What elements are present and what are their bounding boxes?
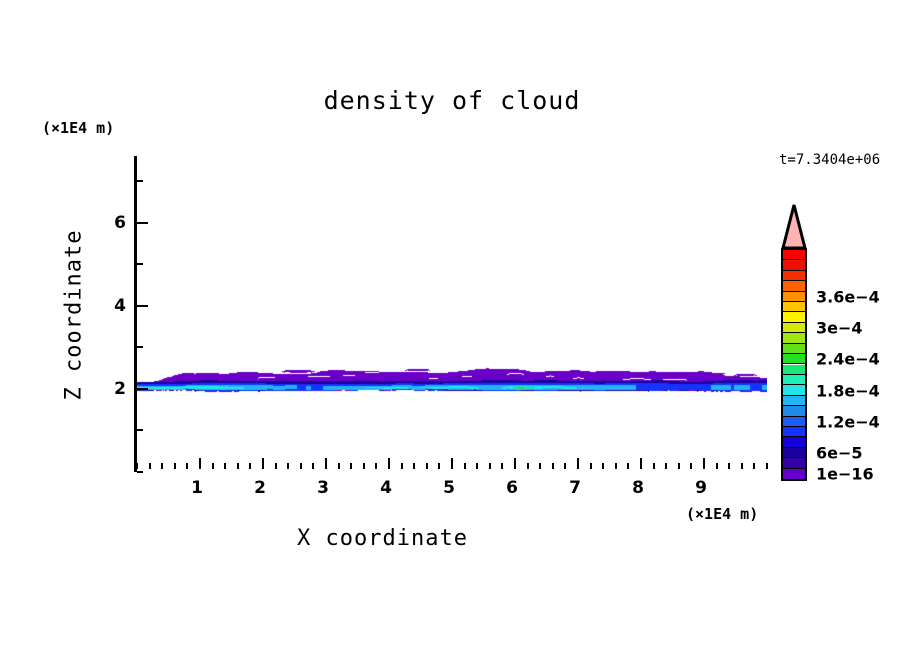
y-tick-minor xyxy=(137,471,143,473)
x-tick-major xyxy=(703,458,705,469)
colorbar-tick-label: 1.8e−4 xyxy=(816,381,880,400)
colorbar-band xyxy=(783,365,805,375)
x-tick-minor xyxy=(300,463,302,469)
x-tick-major xyxy=(451,458,453,469)
y-tick-label: 6 xyxy=(106,213,126,233)
colorbar-band xyxy=(783,271,805,281)
x-tick-major xyxy=(325,458,327,469)
x-tick-label: 5 xyxy=(443,478,455,498)
colorbar-band xyxy=(783,323,805,333)
x-tick-minor xyxy=(413,463,415,469)
colorbar-band xyxy=(783,437,805,447)
x-tick-label: 1 xyxy=(191,478,203,498)
x-tick-minor xyxy=(716,463,718,469)
x-tick-minor xyxy=(136,463,138,469)
x-tick-minor xyxy=(312,463,314,469)
x-tick-label: 2 xyxy=(254,478,266,498)
x-tick-minor xyxy=(275,463,277,469)
x-tick-minor xyxy=(690,463,692,469)
x-tick-minor xyxy=(627,463,629,469)
x-tick-minor xyxy=(426,463,428,469)
x-tick-minor xyxy=(174,463,176,469)
x-tick-label: 4 xyxy=(380,478,392,498)
x-tick-minor xyxy=(590,463,592,469)
figure-canvas: density of cloud (×1E4 m) (×1E4 m) t=7.3… xyxy=(0,0,904,654)
timestamp-annotation: t=7.3404e+06 xyxy=(779,152,880,168)
x-tick-label: 6 xyxy=(506,478,518,498)
y-tick-major xyxy=(137,388,148,390)
y-axis-unit-label: (×1E4 m) xyxy=(42,119,114,137)
colorbar-band xyxy=(783,396,805,406)
x-tick-minor xyxy=(287,463,289,469)
y-axis-title: Z coordinate xyxy=(62,230,87,401)
plot-area xyxy=(134,156,764,472)
x-tick-minor xyxy=(501,463,503,469)
y-tick-major xyxy=(137,222,148,224)
colorbar-band xyxy=(783,333,805,343)
x-tick-major xyxy=(199,458,201,469)
colorbar-tick-label: 1e−16 xyxy=(816,464,874,483)
colorbar-band xyxy=(783,385,805,395)
x-tick-label: 9 xyxy=(695,478,707,498)
colorbar-band xyxy=(783,250,805,260)
colorbar-top-arrow-icon xyxy=(781,203,807,249)
page-title: density of cloud xyxy=(0,86,904,115)
y-tick-major xyxy=(137,305,148,307)
x-tick-minor xyxy=(489,463,491,469)
x-tick-minor xyxy=(350,463,352,469)
x-tick-minor xyxy=(401,463,403,469)
x-tick-minor xyxy=(766,463,768,469)
colorbar-band xyxy=(783,344,805,354)
x-tick-minor xyxy=(375,463,377,469)
x-tick-minor xyxy=(149,463,151,469)
colorbar xyxy=(781,203,807,481)
x-tick-minor xyxy=(653,463,655,469)
x-tick-minor xyxy=(212,463,214,469)
y-tick-minor xyxy=(137,346,143,348)
colorbar-tick-label: 3e−4 xyxy=(816,319,863,338)
contour-field xyxy=(137,156,767,472)
colorbar-band xyxy=(783,354,805,364)
x-axis-title: X coordinate xyxy=(0,526,765,551)
y-axis-title-wrap: Z coordinate xyxy=(60,210,88,420)
x-tick-major xyxy=(514,458,516,469)
x-tick-minor xyxy=(753,463,755,469)
x-tick-minor xyxy=(476,463,478,469)
colorbar-band xyxy=(783,417,805,427)
x-tick-minor xyxy=(741,463,743,469)
x-tick-minor xyxy=(224,463,226,469)
x-tick-major xyxy=(640,458,642,469)
x-tick-major xyxy=(577,458,579,469)
x-tick-minor xyxy=(438,463,440,469)
x-tick-minor xyxy=(665,463,667,469)
x-tick-minor xyxy=(552,463,554,469)
x-tick-major xyxy=(388,458,390,469)
y-tick-label: 4 xyxy=(106,296,126,316)
colorbar-band xyxy=(783,458,805,468)
x-tick-label: 3 xyxy=(317,478,329,498)
y-tick-minor xyxy=(137,263,143,265)
y-tick-minor xyxy=(137,180,143,182)
colorbar-band xyxy=(783,448,805,458)
x-tick-minor xyxy=(186,463,188,469)
y-tick-minor xyxy=(137,429,143,431)
x-tick-minor xyxy=(249,463,251,469)
colorbar-band xyxy=(783,281,805,291)
y-tick-label: 2 xyxy=(106,379,126,399)
colorbar-band xyxy=(783,312,805,322)
x-tick-minor xyxy=(728,463,730,469)
x-tick-minor xyxy=(237,463,239,469)
x-tick-minor xyxy=(678,463,680,469)
colorbar-tick-label: 6e−5 xyxy=(816,443,863,462)
colorbar-tick-label: 2.4e−4 xyxy=(816,350,880,369)
colorbar-band xyxy=(783,469,805,479)
x-tick-label: 8 xyxy=(632,478,644,498)
colorbar-tick-label: 1.2e−4 xyxy=(816,412,880,431)
colorbar-band xyxy=(783,427,805,437)
x-tick-minor xyxy=(527,463,529,469)
x-axis-unit-label: (×1E4 m) xyxy=(686,505,758,523)
x-tick-minor xyxy=(615,463,617,469)
x-tick-minor xyxy=(564,463,566,469)
x-tick-minor xyxy=(602,463,604,469)
colorbar-bands xyxy=(781,248,807,481)
colorbar-band xyxy=(783,292,805,302)
x-tick-minor xyxy=(464,463,466,469)
x-tick-minor xyxy=(363,463,365,469)
x-tick-minor xyxy=(161,463,163,469)
x-tick-major xyxy=(262,458,264,469)
colorbar-band xyxy=(783,375,805,385)
colorbar-band xyxy=(783,260,805,270)
colorbar-band xyxy=(783,406,805,416)
x-tick-minor xyxy=(539,463,541,469)
colorbar-tick-label: 3.6e−4 xyxy=(816,287,880,306)
colorbar-band xyxy=(783,302,805,312)
x-tick-label: 7 xyxy=(569,478,581,498)
x-tick-minor xyxy=(338,463,340,469)
